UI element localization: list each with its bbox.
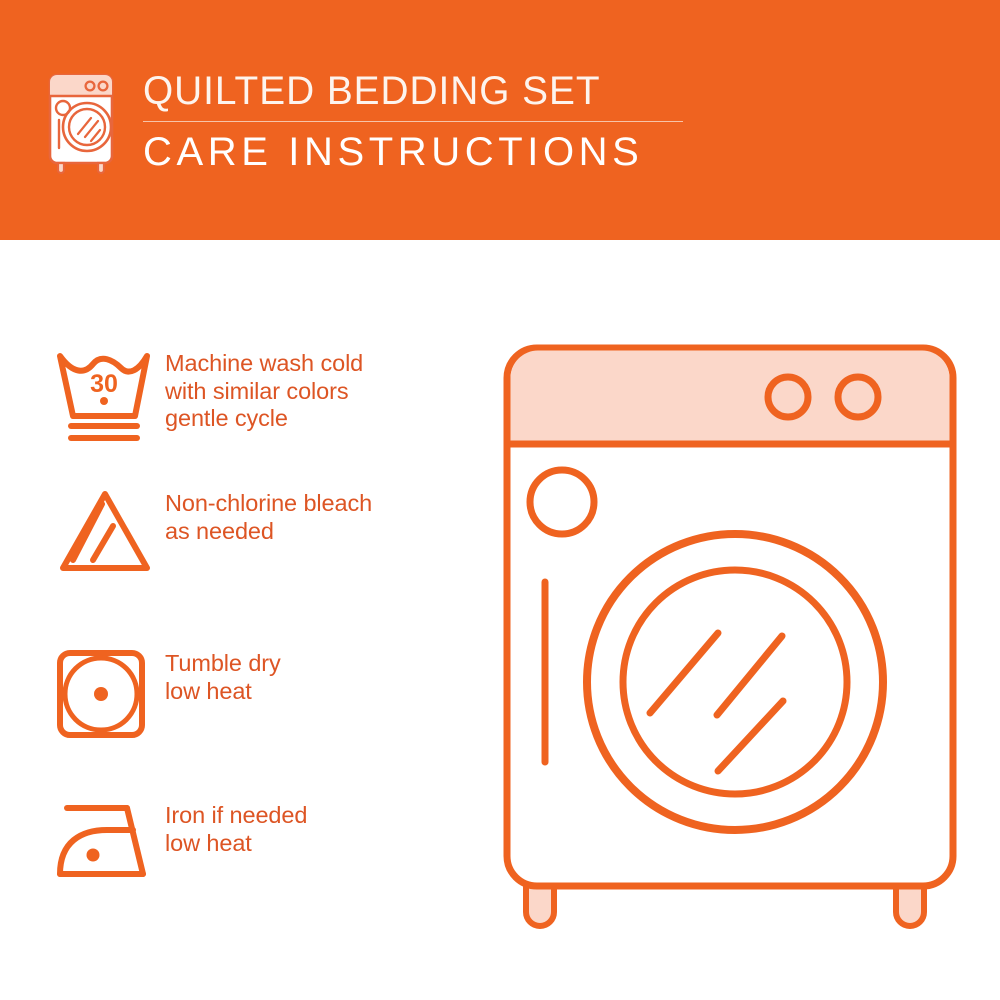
care-line: Iron if needed [165, 802, 307, 830]
care-item-tumble-dry: Tumble dry low heat [55, 648, 475, 740]
iron-icon-wrap [55, 800, 165, 882]
care-item-machine-wash-text: Machine wash cold with similar colors ge… [165, 348, 363, 433]
washing-machine-icon [44, 72, 124, 176]
iron-icon [55, 800, 155, 882]
care-line: low heat [165, 830, 307, 858]
wash-heat-dot [100, 397, 108, 405]
header-text-block: QUILTED BEDDING SET CARE INSTRUCTIONS [143, 68, 703, 176]
care-item-iron: Iron if needed low heat [55, 800, 475, 882]
care-item-tumble-dry-text: Tumble dry low heat [165, 648, 281, 705]
wash-temperature-label: 30 [90, 370, 118, 398]
page-title: QUILTED BEDDING SET [143, 68, 686, 114]
care-line: as needed [165, 518, 372, 546]
care-line: Machine wash cold [165, 350, 363, 378]
tumble-dry-icon-wrap [55, 648, 165, 740]
washing-machine-illustration [490, 330, 970, 940]
machine-wash-icon-wrap: 30 [55, 348, 165, 446]
non-chlorine-bleach-icon-wrap [55, 488, 165, 578]
care-item-machine-wash: 30 Machine wash cold with similar colors… [55, 348, 475, 446]
care-item-iron-text: Iron if needed low heat [165, 800, 307, 857]
control-panel [511, 351, 950, 445]
care-line: gentle cycle [165, 405, 363, 433]
care-item-bleach: Non-chlorine bleach as needed [55, 488, 475, 578]
non-chlorine-bleach-icon [55, 488, 155, 578]
header-banner: QUILTED BEDDING SET CARE INSTRUCTIONS [0, 0, 1000, 240]
machine-wash-icon: 30 [55, 348, 155, 446]
care-item-bleach-text: Non-chlorine bleach as needed [165, 488, 372, 545]
iron-heat-dot [87, 849, 100, 862]
care-line: Tumble dry [165, 650, 281, 678]
care-line: Non-chlorine bleach [165, 490, 372, 518]
care-line: low heat [165, 678, 281, 706]
care-instructions-page: QUILTED BEDDING SET CARE INSTRUCTIONS 30… [0, 0, 1000, 1000]
page-subtitle: CARE INSTRUCTIONS [143, 128, 703, 176]
tumble-dry-icon [55, 648, 147, 740]
title-divider [143, 121, 683, 122]
tumble-dry-heat-dot [94, 687, 108, 701]
care-line: with similar colors [165, 378, 363, 406]
